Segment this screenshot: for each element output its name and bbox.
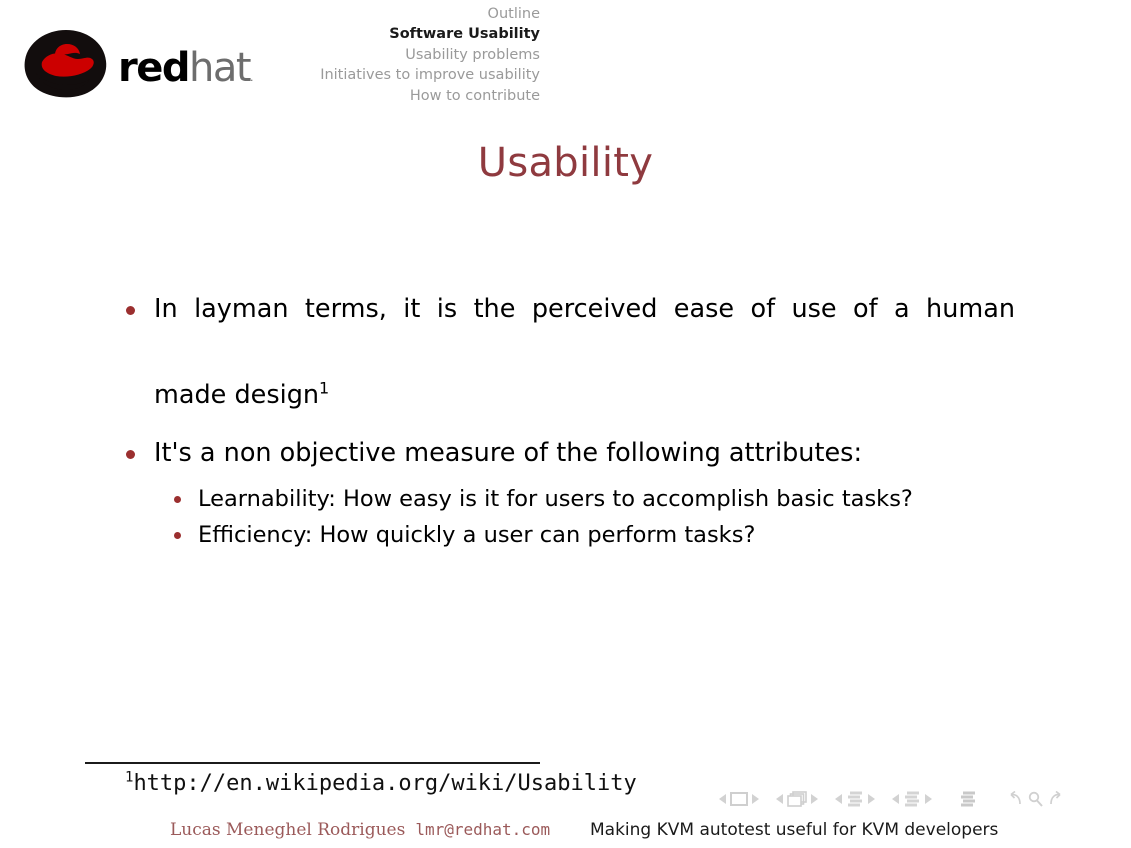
- bullet-icon: [174, 532, 181, 539]
- frame-title: Usability: [0, 140, 1131, 186]
- subsection-icon[interactable]: [846, 791, 864, 807]
- footer-author-block: Lucas Meneghel Rodrigueslmr@redhat.com: [170, 820, 550, 840]
- redhat-logo: redhat.: [22, 28, 252, 102]
- appendix-icon[interactable]: [959, 791, 977, 807]
- section-icon[interactable]: [903, 791, 921, 807]
- nav-item-usability-problems[interactable]: Usability problems: [320, 45, 540, 65]
- slide-footer: Lucas Meneghel Rodrigueslmr@redhat.com M…: [0, 820, 1131, 848]
- slide-nav-group[interactable]: [715, 792, 763, 806]
- list-item: Learnability: How easy is it for users t…: [154, 481, 1015, 517]
- subitem-label: Efficiency: How quickly a user can perfo…: [198, 522, 755, 548]
- footnote-marker[interactable]: 1: [319, 379, 329, 398]
- footer-email[interactable]: lmr@redhat.com: [415, 820, 550, 839]
- bullet-icon: [174, 496, 181, 503]
- slide-icon[interactable]: [730, 792, 748, 806]
- wordmark-hat: hat: [189, 45, 250, 91]
- item-line-1: In layman terms, it is the perceived eas…: [154, 288, 1015, 374]
- list-item: Efficiency: How quickly a user can perfo…: [154, 517, 1015, 553]
- subsection-nav-group[interactable]: [831, 791, 879, 807]
- prev-section-icon[interactable]: [892, 794, 899, 804]
- item-line-2-text: made design: [154, 380, 319, 410]
- footnote-rule: [85, 762, 540, 764]
- footnote-area: 1http://en.wikipedia.org/wiki/Usability: [85, 762, 785, 796]
- subitem-label: Learnability: How easy is it for users t…: [198, 486, 913, 512]
- history-nav-group[interactable]: [1007, 791, 1064, 807]
- wordmark-trademark: .: [250, 71, 252, 84]
- footer-author: Lucas Meneghel Rodrigues: [170, 820, 405, 840]
- next-slide-icon[interactable]: [752, 794, 759, 804]
- frame-body: In layman terms, it is the perceived eas…: [110, 288, 1015, 568]
- prev-subsection-icon[interactable]: [835, 794, 842, 804]
- wordmark-red: red: [118, 45, 189, 91]
- footer-talk-title: Making KVM autotest useful for KVM devel…: [590, 820, 998, 840]
- redhat-wordmark: redhat.: [118, 48, 252, 88]
- next-section-icon[interactable]: [925, 794, 932, 804]
- prev-frame-icon[interactable]: [776, 794, 783, 804]
- item-line-2: made design1: [154, 374, 1015, 417]
- redhat-shadowman-icon: [22, 28, 110, 100]
- frame-icon[interactable]: [787, 791, 807, 807]
- back-icon[interactable]: [1007, 791, 1024, 807]
- nav-item-software-usability[interactable]: Software Usability: [320, 24, 540, 44]
- prev-slide-icon[interactable]: [719, 794, 726, 804]
- nav-item-how-to-contribute[interactable]: How to contribute: [320, 86, 540, 106]
- itemize-level-2: Learnability: How easy is it for users t…: [154, 481, 1015, 553]
- frame-nav-group[interactable]: [772, 791, 822, 807]
- bullet-icon: [126, 450, 135, 459]
- next-frame-icon[interactable]: [811, 794, 818, 804]
- find-icon[interactable]: [1027, 791, 1044, 807]
- outline-navigation: Outline Software Usability Usability pro…: [320, 4, 540, 106]
- forward-icon[interactable]: [1047, 791, 1064, 807]
- slide-header: redhat. Outline Software Usability Usabi…: [0, 0, 1131, 118]
- item-line-1: It's a non objective measure of the foll…: [154, 432, 1015, 475]
- beamer-navigation-bar[interactable]: [715, 788, 1064, 810]
- footnote-url[interactable]: http://en.wikipedia.org/wiki/Usability: [133, 771, 636, 796]
- bullet-icon: [126, 306, 135, 315]
- nav-item-initiatives-to-improve-usability[interactable]: Initiatives to improve usability: [320, 65, 540, 85]
- next-subsection-icon[interactable]: [868, 794, 875, 804]
- list-item: In layman terms, it is the perceived eas…: [110, 288, 1015, 417]
- list-item: It's a non objective measure of the foll…: [110, 432, 1015, 553]
- footnote-text[interactable]: 1http://en.wikipedia.org/wiki/Usability: [85, 771, 785, 796]
- itemize-level-1: In layman terms, it is the perceived eas…: [110, 288, 1015, 553]
- nav-item-outline[interactable]: Outline: [320, 4, 540, 24]
- section-nav-group[interactable]: [888, 791, 936, 807]
